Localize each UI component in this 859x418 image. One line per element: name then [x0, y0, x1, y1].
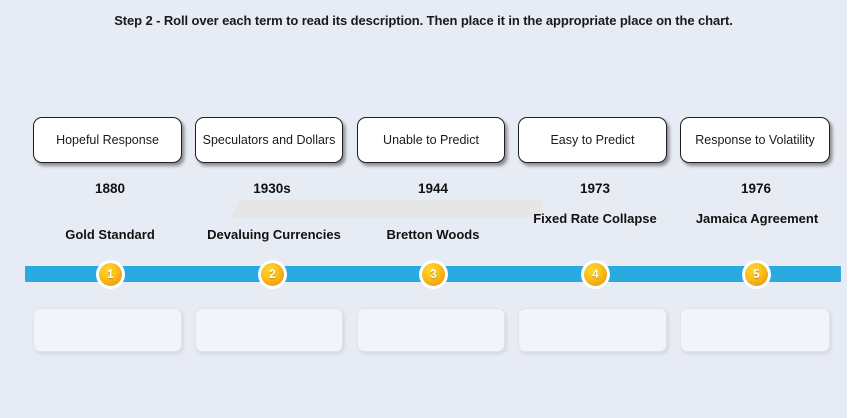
drop-zone-3[interactable]: [357, 308, 505, 352]
timeline-node-number: 4: [584, 263, 607, 286]
term-card-label: Hopeful Response: [56, 133, 159, 148]
event-label-devaluing-currencies: Devaluing Currencies: [190, 227, 358, 243]
year-label-4: 1973: [525, 181, 665, 196]
timeline-node-4[interactable]: 4: [581, 260, 610, 289]
drop-zone-4[interactable]: [518, 308, 667, 352]
timeline-node-number: 1: [99, 263, 122, 286]
drop-zone-2[interactable]: [195, 308, 343, 352]
timeline-node-5[interactable]: 5: [742, 260, 771, 289]
year-label-5: 1976: [686, 181, 826, 196]
drop-zone-5[interactable]: [680, 308, 830, 352]
event-label-gold-standard: Gold Standard: [36, 227, 184, 243]
term-card-response-to-volatility[interactable]: Response to Volatility: [680, 117, 830, 163]
timeline-node-2[interactable]: 2: [258, 260, 287, 289]
event-label-jamaica-agreement: Jamaica Agreement: [690, 211, 824, 227]
term-card-speculators-and-dollars[interactable]: Speculators and Dollars: [195, 117, 343, 163]
year-label-2: 1930s: [202, 181, 342, 196]
year-label-1: 1880: [40, 181, 180, 196]
activity-stage: Step 2 - Roll over each term to read its…: [0, 0, 859, 418]
term-card-label: Unable to Predict: [383, 133, 479, 148]
instruction-text: Step 2 - Roll over each term to read its…: [0, 13, 847, 28]
activity-canvas: Step 2 - Roll over each term to read its…: [0, 0, 847, 418]
term-card-easy-to-predict[interactable]: Easy to Predict: [518, 117, 667, 163]
drop-zone-1[interactable]: [33, 308, 182, 352]
timeline-node-1[interactable]: 1: [96, 260, 125, 289]
timeline-node-number: 2: [261, 263, 284, 286]
term-card-label: Speculators and Dollars: [203, 133, 336, 148]
event-label-fixed-rate-collapse: Fixed Rate Collapse: [528, 211, 662, 227]
term-card-label: Response to Volatility: [695, 133, 815, 148]
timeline-node-number: 3: [422, 263, 445, 286]
term-card-hopeful-response[interactable]: Hopeful Response: [33, 117, 182, 163]
event-label-bretton-woods: Bretton Woods: [357, 227, 509, 243]
timeline-node-3[interactable]: 3: [419, 260, 448, 289]
term-card-unable-to-predict[interactable]: Unable to Predict: [357, 117, 505, 163]
tooltip-ghost-panel: [230, 200, 542, 218]
timeline-node-number: 5: [745, 263, 768, 286]
term-card-label: Easy to Predict: [550, 133, 634, 148]
year-label-3: 1944: [363, 181, 503, 196]
